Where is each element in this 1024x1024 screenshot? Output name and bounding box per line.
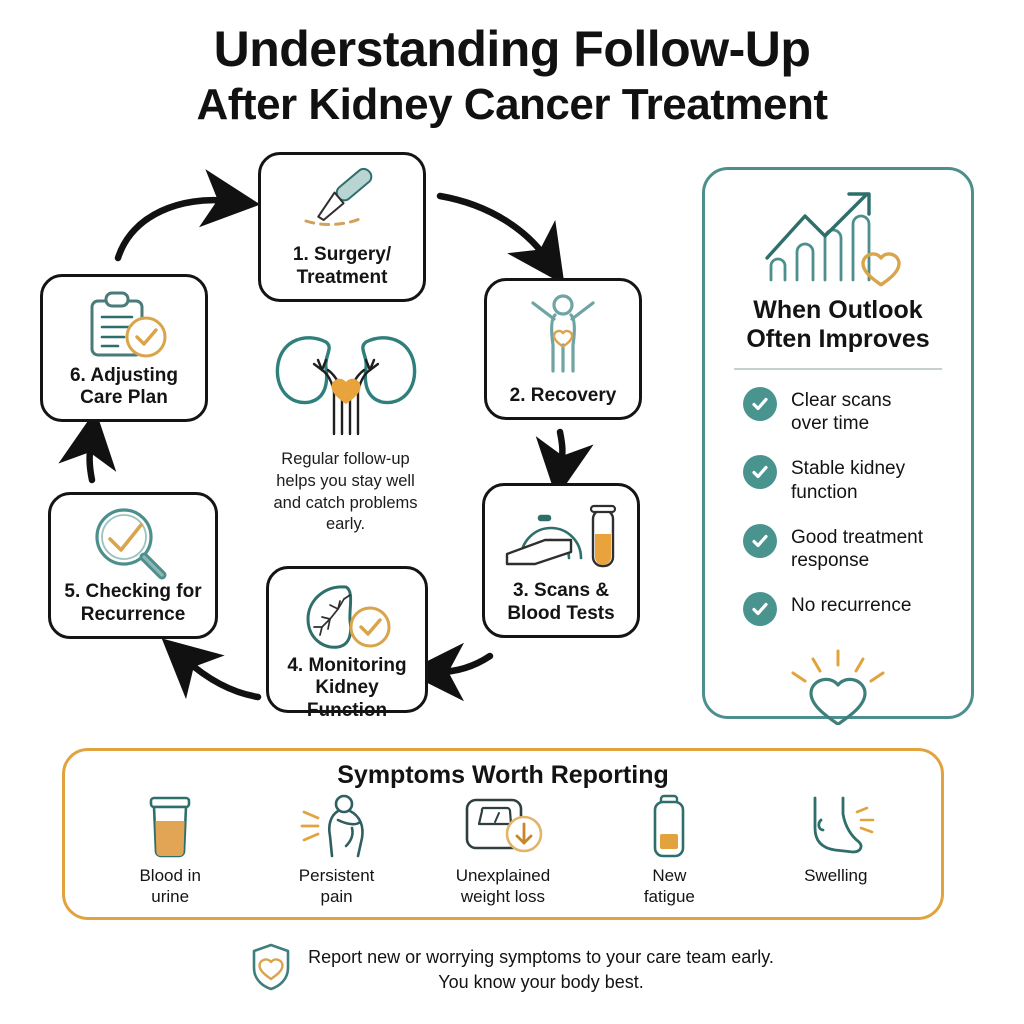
cycle-step-1-surgery-treatment[interactable]: 1. Surgery/ Treatment	[258, 152, 426, 302]
outlook-panel: When Outlook Often Improves Clear scans …	[702, 167, 974, 719]
symptom-row: Blood in urine	[65, 794, 941, 907]
weight-scale-down-arrow-icon	[461, 794, 545, 860]
check-circle-icon	[743, 387, 777, 421]
cycle-step-2-recovery[interactable]: 2. Recovery	[484, 278, 642, 420]
arrow-5-to-6	[90, 442, 92, 480]
cycle-step-4-monitoring-kidney-function[interactable]: 4. Monitoring Kidney Function	[266, 566, 428, 713]
back-pain-person-icon	[298, 794, 376, 860]
cycle-step-2-label: 2. Recovery	[504, 385, 623, 407]
symptom-unexplained-weight-loss: Unexplained weight loss	[428, 794, 578, 907]
arrow-3-to-4	[438, 656, 490, 672]
outlook-item-text: Clear scans over time	[791, 386, 891, 435]
person-arms-raised-icon	[487, 291, 639, 379]
outlook-list-item: Good treatment response	[743, 523, 971, 572]
cycle-step-6-adjusting-care-plan[interactable]: 6. Adjusting Care Plan	[40, 274, 208, 422]
outlook-panel-heading: When Outlook Often Improves	[705, 296, 971, 354]
cycle-step-6-label: 6. Adjusting Care Plan	[64, 365, 184, 410]
outlook-list-item: Clear scans over time	[743, 386, 971, 435]
symptom-label: Blood in urine	[139, 866, 200, 907]
title-line-2: After Kidney Cancer Treatment	[0, 80, 1024, 129]
panel-divider	[734, 368, 942, 370]
symptoms-title: Symptoms Worth Reporting	[65, 761, 941, 790]
cycle-step-5-label: 5. Checking for Recurrence	[58, 581, 207, 626]
shield-heart-icon	[250, 942, 292, 997]
arrow-4-to-5	[186, 660, 258, 697]
footer: Report new or worrying symptoms to your …	[0, 942, 1024, 997]
scalpel-icon	[261, 165, 423, 235]
footer-text: Report new or worrying symptoms to your …	[308, 945, 774, 995]
center-caption: Regular follow-up helps you stay well an…	[274, 449, 418, 536]
cycle-step-3-scans-blood-tests[interactable]: 3. Scans & Blood Tests	[482, 483, 640, 638]
symptom-new-fatigue: New fatigue	[594, 794, 744, 907]
radiant-heart-icon	[705, 645, 971, 725]
symptom-persistent-pain: Persistent pain	[262, 794, 412, 907]
symptom-label: Unexplained weight loss	[456, 866, 551, 907]
page-title: Understanding Follow-Up After Kidney Can…	[0, 22, 1024, 129]
symptom-swelling: Swelling	[761, 794, 911, 887]
rising-bar-chart-heart-icon	[705, 184, 971, 288]
infographic-root: Understanding Follow-Up After Kidney Can…	[0, 0, 1024, 1024]
check-circle-icon	[743, 455, 777, 489]
arrow-6-to-1	[118, 200, 228, 258]
check-circle-icon	[743, 524, 777, 558]
kidneys-heart-icon	[266, 326, 426, 443]
arrow-2-to-3	[560, 432, 562, 466]
symptom-label: Persistent pain	[299, 866, 375, 907]
symptoms-band: Symptoms Worth Reporting Blood in urine	[62, 748, 944, 920]
center-cluster: Regular follow-up helps you stay well an…	[258, 326, 433, 536]
low-battery-icon	[644, 794, 694, 860]
outlook-list-item: Stable kidney function	[743, 454, 971, 503]
ct-scanner-test-tube-icon	[485, 496, 637, 572]
symptom-label: Swelling	[804, 866, 867, 887]
outlook-check-list: Clear scans over time Stable kidney func…	[743, 386, 971, 626]
swollen-foot-icon	[795, 794, 877, 860]
kidney-check-icon	[269, 579, 425, 655]
cycle-step-4-label: 4. Monitoring Kidney Function	[269, 655, 425, 722]
cycle-step-3-label: 3. Scans & Blood Tests	[501, 580, 620, 625]
outlook-list-item: No recurrence	[743, 591, 971, 626]
cycle-step-5-checking-for-recurrence[interactable]: 5. Checking for Recurrence	[48, 492, 218, 639]
arrow-1-to-2	[440, 196, 546, 258]
outlook-item-text: Stable kidney function	[791, 454, 905, 503]
title-line-1: Understanding Follow-Up	[0, 22, 1024, 76]
cycle-step-1-label: 1. Surgery/ Treatment	[287, 244, 397, 289]
urine-sample-cup-icon	[139, 794, 201, 860]
clipboard-check-icon	[43, 287, 205, 365]
outlook-item-text: Good treatment response	[791, 523, 923, 572]
symptom-label: New fatigue	[644, 866, 695, 907]
orange-heart	[331, 379, 360, 404]
outlook-item-text: No recurrence	[791, 591, 911, 617]
magnifier-check-icon	[51, 505, 215, 581]
symptom-blood-in-urine: Blood in urine	[95, 794, 245, 907]
check-circle-icon	[743, 592, 777, 626]
